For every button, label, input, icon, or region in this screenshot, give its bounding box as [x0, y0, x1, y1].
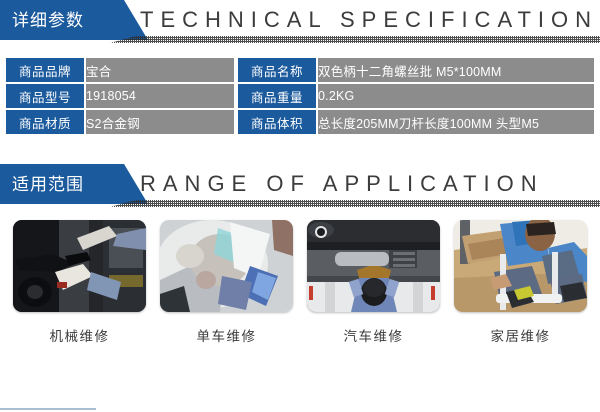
thumbnail-caption: 机械维修 — [13, 325, 146, 345]
thumbnail-caption: 单车维修 — [160, 325, 293, 345]
table-row: 商品型号 1918054 商品重量 0.2KG — [3, 83, 597, 109]
list-item[interactable]: 机械维修 — [13, 220, 146, 345]
section-header-range-of-application: 适用范围 RANGE OF APPLICATION — [0, 164, 600, 212]
spec-label: 商品品牌 — [3, 57, 85, 83]
banner-blue-shape: 详细参数 — [0, 0, 148, 40]
spec-value: S2合金钢 — [85, 109, 236, 135]
section-title-en: TECHNICAL SPECIFICATION — [140, 4, 598, 36]
table-row: 商品品牌 宝合 商品名称 双色柄十二角螺丝批 M5*100MM — [3, 57, 597, 83]
application-thumbnail-list: 机械维修 单车维修 — [0, 212, 600, 345]
spec-value: 双色柄十二角螺丝批 M5*100MM — [317, 57, 597, 83]
home-repair-photo[interactable] — [454, 220, 587, 312]
specification-table: 商品品牌 宝合 商品名称 双色柄十二角螺丝批 M5*100MM 商品型号 191… — [0, 56, 600, 136]
list-item[interactable]: 汽车维修 — [307, 220, 440, 345]
section-header-technical-specification: 详细参数 TECHNICAL SPECIFICATION — [0, 0, 600, 48]
bottom-rule-divider — [0, 408, 96, 410]
automotive-repair-photo[interactable] — [307, 220, 440, 312]
section-title-cn: 详细参数 — [0, 12, 84, 29]
spec-label: 商品体积 — [236, 109, 317, 135]
list-item[interactable]: 单车维修 — [160, 220, 293, 345]
banner-blue-shape: 适用范围 — [0, 164, 148, 204]
hatch-texture-band — [110, 36, 600, 43]
spec-label: 商品名称 — [236, 57, 317, 83]
spec-label: 商品重量 — [236, 83, 317, 109]
spec-label: 商品材质 — [3, 109, 85, 135]
spec-value: 总长度205MM刀杆长度100MM 头型M5 — [317, 109, 597, 135]
spec-value: 1918054 — [85, 83, 236, 109]
table-row: 商品材质 S2合金钢 商品体积 总长度205MM刀杆长度100MM 头型M5 — [3, 109, 597, 135]
spec-value: 宝合 — [85, 57, 236, 83]
spec-value: 0.2KG — [317, 83, 597, 109]
section-title-en: RANGE OF APPLICATION — [140, 168, 544, 200]
hatch-texture-band — [110, 200, 600, 207]
list-item[interactable]: 家居维修 — [454, 220, 587, 345]
section-title-cn: 适用范围 — [0, 176, 84, 193]
mechanical-repair-photo[interactable] — [13, 220, 146, 312]
thumbnail-caption: 家居维修 — [454, 325, 587, 345]
thumbnail-caption: 汽车维修 — [307, 325, 440, 345]
bicycle-repair-photo[interactable] — [160, 220, 293, 312]
spec-label: 商品型号 — [3, 83, 85, 109]
